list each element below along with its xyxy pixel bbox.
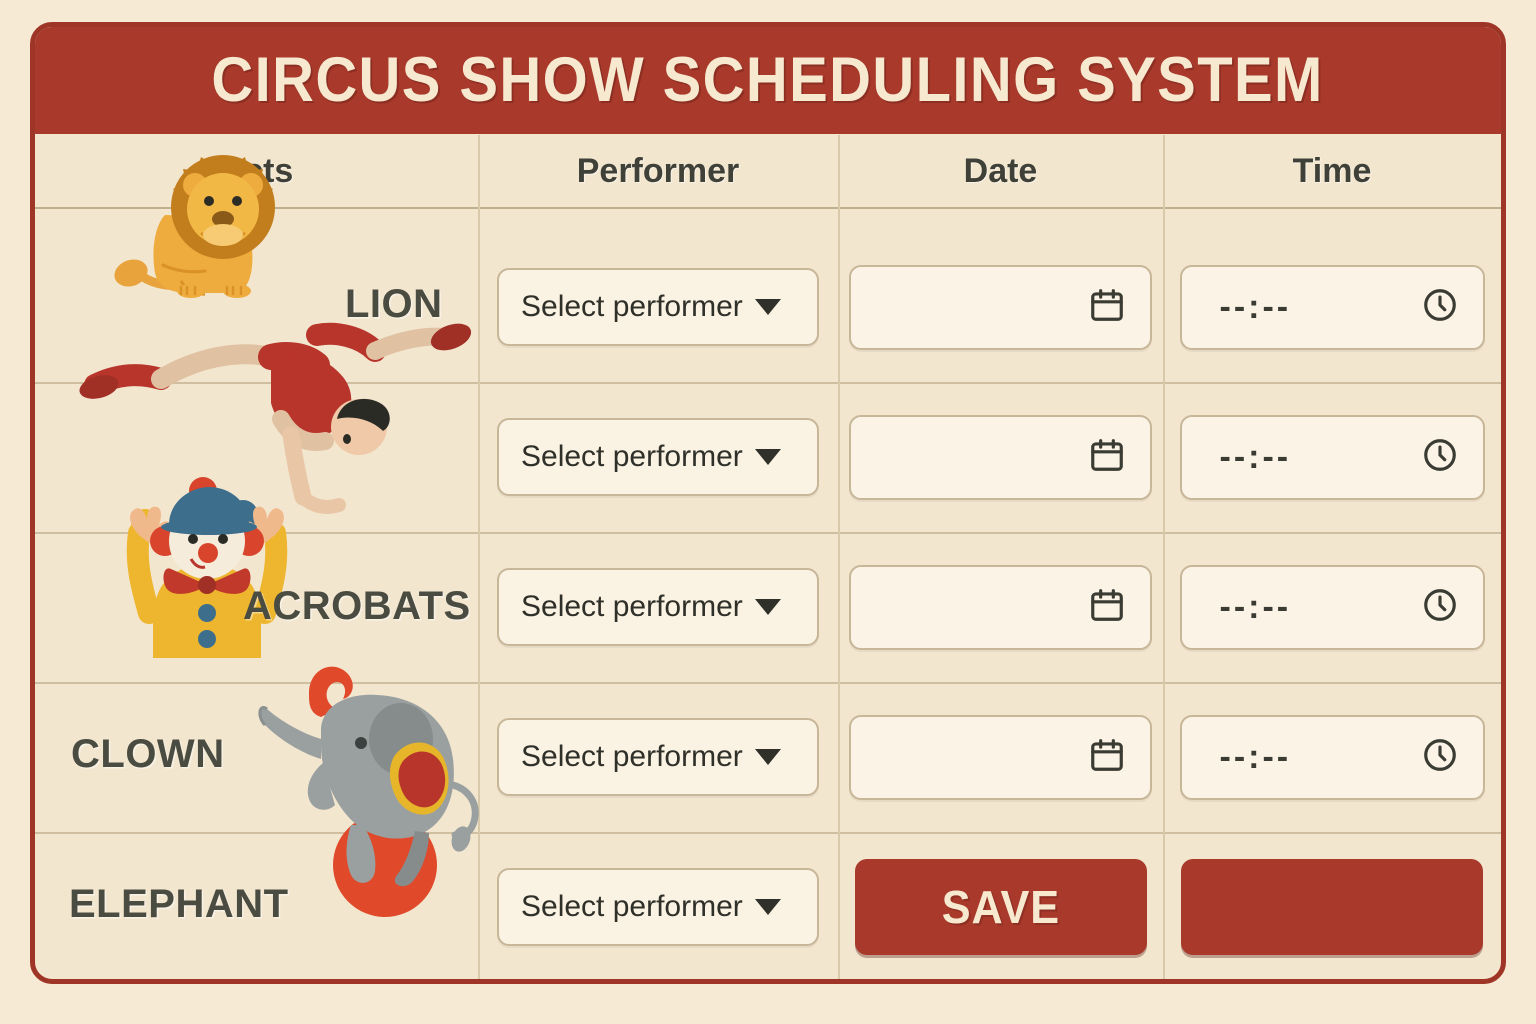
circus-scheduling-window: CIRCUS SHOW SCHEDULING SYSTEM Acts Perfo…	[30, 22, 1506, 984]
performer-select-3[interactable]: Select performer	[497, 568, 819, 646]
time-input-3[interactable]: --:--	[1180, 565, 1485, 650]
act-cell[interactable]: ELEPHANT	[35, 832, 478, 982]
performer-select-5[interactable]: Select performer	[497, 868, 819, 946]
date-cell	[838, 682, 1163, 832]
act-cell[interactable]: LION	[35, 232, 478, 382]
chevron-down-icon	[755, 599, 781, 615]
table-row: LION Select performer	[35, 232, 1501, 382]
performer-cell: Select performer	[478, 532, 838, 682]
performer-select-value-2: Select performer	[521, 440, 743, 474]
time-cell: --:--	[1163, 232, 1501, 382]
performer-select-1[interactable]: Select performer	[497, 268, 819, 346]
clock-icon[interactable]	[1421, 736, 1459, 779]
save-button[interactable]: SAVE	[855, 859, 1147, 955]
save-button-label: SAVE	[941, 880, 1059, 934]
act-label-clown: CLOWN	[71, 732, 225, 777]
chevron-down-icon	[755, 299, 781, 315]
time-cell: --:--	[1163, 382, 1501, 532]
date-input-4[interactable]	[849, 715, 1152, 800]
date-cell	[838, 232, 1163, 382]
performer-select-value-1: Select performer	[521, 290, 743, 324]
time-input-value-1: --:--	[1220, 288, 1292, 327]
table-row: Select performer --:--	[35, 382, 1501, 532]
act-label-lion: LION	[345, 282, 443, 327]
column-header-date: Date	[838, 135, 1163, 207]
performer-select-value-4: Select performer	[521, 740, 743, 774]
date-cell	[838, 382, 1163, 532]
time-input-value-4: --:--	[1220, 738, 1292, 777]
time-input-value-2: --:--	[1220, 438, 1292, 477]
performer-cell: Select performer	[478, 232, 838, 382]
clock-icon[interactable]	[1421, 586, 1459, 629]
time-input-value-3: --:--	[1220, 588, 1292, 627]
clock-icon[interactable]	[1421, 286, 1459, 329]
chevron-down-icon	[755, 899, 781, 915]
time-cell: --:--	[1163, 532, 1501, 682]
calendar-icon[interactable]	[1088, 586, 1126, 629]
column-header-time: Time	[1163, 135, 1501, 207]
time-input-2[interactable]: --:--	[1180, 415, 1485, 500]
performer-cell: Select performer	[478, 682, 838, 832]
time-cell: --:--	[1163, 682, 1501, 832]
grid-divider	[35, 207, 1501, 209]
performer-cell: Select performer	[478, 382, 838, 532]
act-label-acrobats: ACROBATS	[243, 584, 471, 629]
table-header-row: Acts Performer Date Time	[35, 135, 1501, 207]
secondary-action-button[interactable]	[1181, 859, 1483, 955]
performer-select-value-3: Select performer	[521, 590, 743, 624]
act-cell[interactable]	[35, 382, 478, 532]
date-input-1[interactable]	[849, 265, 1152, 350]
save-cell: SAVE	[838, 832, 1163, 982]
table-row: ACROBATS Select performer	[35, 532, 1501, 682]
secondary-action-cell	[1163, 832, 1501, 982]
time-input-4[interactable]: --:--	[1180, 715, 1485, 800]
act-label-elephant: ELEPHANT	[69, 882, 289, 927]
time-input-1[interactable]: --:--	[1180, 265, 1485, 350]
calendar-icon[interactable]	[1088, 286, 1126, 329]
table-row: ELEPHANT Select performer SAVE	[35, 832, 1501, 982]
title-bar: CIRCUS SHOW SCHEDULING SYSTEM	[34, 26, 1502, 134]
performer-cell: Select performer	[478, 832, 838, 982]
calendar-icon[interactable]	[1088, 736, 1126, 779]
date-input-3[interactable]	[849, 565, 1152, 650]
schedule-grid: Acts Performer Date Time	[35, 135, 1501, 979]
act-cell[interactable]: ACROBATS	[35, 532, 478, 682]
table-row: CLOWN Select performer	[35, 682, 1501, 832]
chevron-down-icon	[755, 749, 781, 765]
chevron-down-icon	[755, 449, 781, 465]
performer-select-4[interactable]: Select performer	[497, 718, 819, 796]
performer-select-value-5: Select performer	[521, 890, 743, 924]
performer-select-2[interactable]: Select performer	[497, 418, 819, 496]
calendar-icon[interactable]	[1088, 436, 1126, 479]
page-title: CIRCUS SHOW SCHEDULING SYSTEM	[212, 44, 1324, 116]
clock-icon[interactable]	[1421, 436, 1459, 479]
act-cell[interactable]: CLOWN	[35, 682, 478, 832]
date-cell	[838, 532, 1163, 682]
column-header-performer: Performer	[478, 135, 838, 207]
column-header-acts: Acts	[35, 135, 478, 207]
date-input-2[interactable]	[849, 415, 1152, 500]
